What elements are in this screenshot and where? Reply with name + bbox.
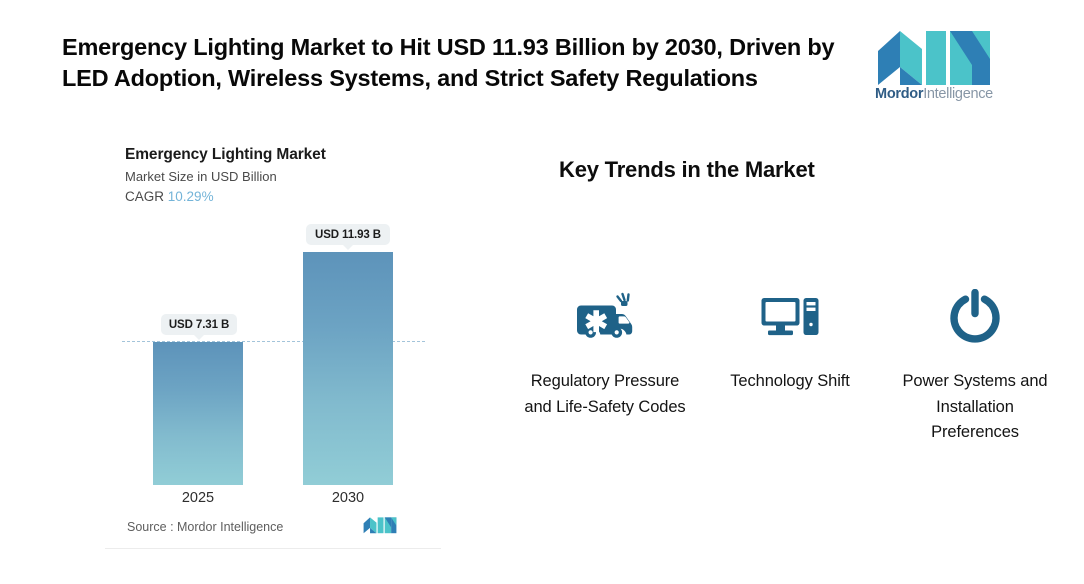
bar-value-badge-2025: USD 7.31 B bbox=[161, 314, 237, 335]
key-trends-heading: Key Trends in the Market bbox=[559, 157, 815, 183]
mordor-logo-mark bbox=[876, 29, 992, 85]
trend-label-technology-shift: Technology Shift bbox=[730, 369, 849, 395]
mordor-intelligence-logo: MordorIntelligence bbox=[872, 29, 996, 105]
x-axis-label-2025: 2025 bbox=[153, 490, 243, 506]
power-button-icon bbox=[948, 285, 1002, 347]
chart-source-label: Source : Mordor Intelligence bbox=[127, 520, 283, 534]
trend-label-power-systems: Power Systems and Installation Preferenc… bbox=[890, 369, 1060, 446]
bar-2025 bbox=[153, 342, 243, 485]
trend-item-regulatory-pressure: Regulatory Pressure and Life-Safety Code… bbox=[520, 285, 690, 420]
bar-chart-plot-area: USD 7.31 B USD 11.93 B 2025 2030 bbox=[105, 126, 441, 549]
x-axis-label-2030: 2030 bbox=[303, 490, 393, 506]
bar-value-badge-2030: USD 11.93 B bbox=[306, 224, 390, 245]
logo-word-mordor: Mordor bbox=[875, 86, 923, 102]
logo-word-intelligence: Intelligence bbox=[923, 86, 993, 102]
mordor-logo-mark-small bbox=[363, 516, 397, 534]
key-trends-list: Regulatory Pressure and Life-Safety Code… bbox=[520, 285, 1060, 446]
page-title: Emergency Lighting Market to Hit USD 11.… bbox=[62, 32, 862, 94]
page-header: Emergency Lighting Market to Hit USD 11.… bbox=[0, 0, 1084, 118]
trend-item-technology-shift: Technology Shift bbox=[705, 285, 875, 395]
desktop-computer-icon bbox=[760, 285, 820, 347]
ambulance-icon bbox=[574, 285, 636, 347]
market-size-chart-card: Emergency Lighting Market Market Size in… bbox=[105, 126, 441, 549]
mordor-logo-wordmark: MordorIntelligence bbox=[872, 86, 996, 103]
trend-item-power-systems: Power Systems and Installation Preferenc… bbox=[890, 285, 1060, 446]
trend-label-regulatory-pressure: Regulatory Pressure and Life-Safety Code… bbox=[520, 369, 690, 420]
bar-2030 bbox=[303, 252, 393, 485]
